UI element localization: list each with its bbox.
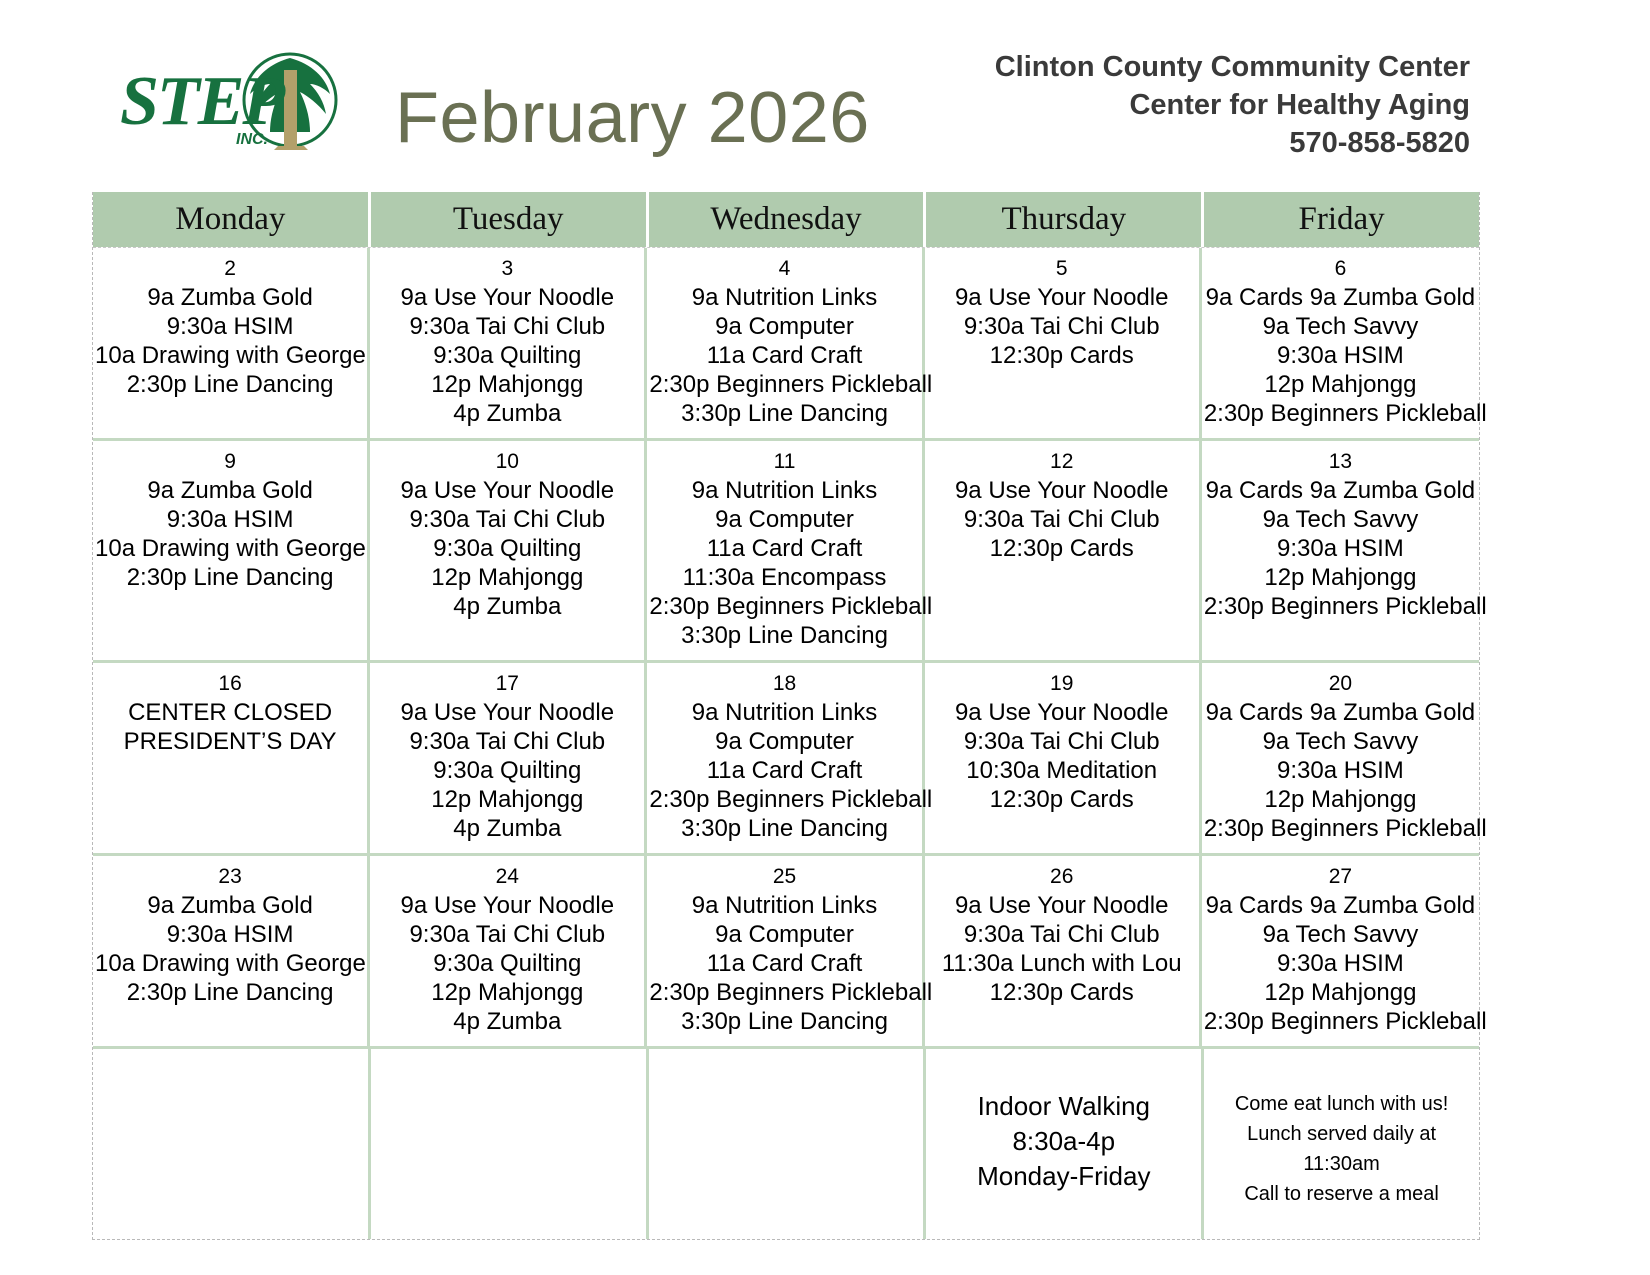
event-item: 9a Computer [649,312,919,341]
event-item: 9a Cards 9a Zumba Gold [1204,476,1477,505]
event-item: 9:30a Quilting [372,949,642,978]
day-cell-27[interactable]: 279a Cards 9a Zumba Gold9a Tech Savvy9:3… [1202,856,1479,1046]
day-number: 11 [649,447,919,476]
day-header-friday: Friday [1204,192,1479,247]
event-item: 11:30a Encompass [649,563,919,592]
event-item: 9a Use Your Noodle [372,283,642,312]
day-number: 4 [649,254,919,283]
day-number: 10 [372,447,642,476]
day-number: 17 [372,669,642,698]
event-item: 9a Computer [649,727,919,756]
day-number: 9 [95,447,365,476]
event-item: 2:30p Beginners Pickleball [649,785,919,814]
note-line: Monday-Friday [934,1159,1193,1194]
calendar-week-row: 29a Zumba Gold9:30a HSIM10a Drawing with… [93,247,1479,438]
event-item: 9:30a HSIM [1204,341,1477,370]
event-item: 9:30a HSIM [95,920,365,949]
step-inc-logo: STEP INC. [118,48,348,168]
day-header-monday: Monday [93,192,371,247]
day-number: 19 [927,669,1197,698]
event-item: 2:30p Beginners Pickleball [1204,1007,1477,1036]
day-number: 3 [372,254,642,283]
event-item: 9a Use Your Noodle [372,698,642,727]
event-item: 2:30p Beginners Pickleball [1204,592,1477,621]
note-line: Come eat lunch with us! [1212,1089,1471,1119]
event-item: 9:30a Quilting [372,341,642,370]
event-item: 2:30p Beginners Pickleball [649,978,919,1007]
day-header-wednesday: Wednesday [649,192,927,247]
day-cell-17[interactable]: 179a Use Your Noodle9:30a Tai Chi Club9:… [370,663,647,853]
event-item: 4p Zumba [372,1007,642,1036]
event-item: 9:30a Quilting [372,534,642,563]
note-cell-empty [371,1049,649,1239]
org-name: Clinton County Community Center [995,48,1470,86]
event-item: 2:30p Line Dancing [95,563,365,592]
day-cell-10[interactable]: 109a Use Your Noodle9:30a Tai Chi Club9:… [370,441,647,660]
note-line: 11:30am [1212,1149,1471,1179]
day-cell-26[interactable]: 269a Use Your Noodle9:30a Tai Chi Club11… [925,856,1202,1046]
event-item: 3:30p Line Dancing [649,621,919,650]
event-item: 2:30p Line Dancing [95,978,365,1007]
event-item: 9a Computer [649,505,919,534]
event-item: 12p Mahjongg [1204,563,1477,592]
day-cell-4[interactable]: 49a Nutrition Links9a Computer11a Card C… [647,248,924,438]
event-item: 9a Tech Savvy [1204,312,1477,341]
event-item: 9a Use Your Noodle [927,891,1197,920]
event-item: 3:30p Line Dancing [649,814,919,843]
note-line: Indoor Walking [934,1089,1193,1124]
event-item: 12p Mahjongg [1204,978,1477,1007]
event-item: 9a Cards 9a Zumba Gold [1204,283,1477,312]
note-cell-filled: Indoor Walking8:30a-4pMonday-Friday [926,1049,1204,1239]
event-item: 2:30p Beginners Pickleball [649,592,919,621]
org-phone: 570-858-5820 [995,124,1470,162]
day-number: 16 [95,669,365,698]
event-item: 9a Nutrition Links [649,476,919,505]
event-item: 11a Card Craft [649,756,919,785]
event-item: 9a Tech Savvy [1204,505,1477,534]
event-item: 10:30a Meditation [927,756,1197,785]
calendar-week-row: 239a Zumba Gold9:30a HSIM10a Drawing wit… [93,853,1479,1046]
event-item: 9:30a HSIM [1204,949,1477,978]
event-item: 12p Mahjongg [1204,785,1477,814]
event-item: 9a Nutrition Links [649,891,919,920]
note-cell-filled: Come eat lunch with us!Lunch served dail… [1204,1049,1479,1239]
event-item: 4p Zumba [372,814,642,843]
day-number: 6 [1204,254,1477,283]
calendar-grid: MondayTuesdayWednesdayThursdayFriday 29a… [92,192,1480,1240]
day-cell-23[interactable]: 239a Zumba Gold9:30a HSIM10a Drawing wit… [93,856,370,1046]
event-item: 3:30p Line Dancing [649,1007,919,1036]
event-item: 4p Zumba [372,399,642,428]
day-header-tuesday: Tuesday [371,192,649,247]
event-item: 2:30p Beginners Pickleball [649,370,919,399]
day-cell-3[interactable]: 39a Use Your Noodle9:30a Tai Chi Club9:3… [370,248,647,438]
event-item: 9:30a Tai Chi Club [927,505,1197,534]
event-item: 9a Nutrition Links [649,283,919,312]
event-item: 9a Zumba Gold [95,476,365,505]
event-item: 9a Cards 9a Zumba Gold [1204,891,1477,920]
event-item: 12:30p Cards [927,785,1197,814]
event-item: 11a Card Craft [649,341,919,370]
note-cell-empty [649,1049,927,1239]
event-item: 9a Zumba Gold [95,283,365,312]
event-item: 9:30a Quilting [372,756,642,785]
day-cell-16[interactable]: 16CENTER CLOSEDPRESIDENT’S DAY [93,663,370,853]
calendar-week-row: 16CENTER CLOSEDPRESIDENT’S DAY179a Use Y… [93,660,1479,853]
day-number: 24 [372,862,642,891]
day-cell-11[interactable]: 119a Nutrition Links9a Computer11a Card … [647,441,924,660]
event-item: 9a Tech Savvy [1204,727,1477,756]
day-number: 27 [1204,862,1477,891]
day-number: 26 [927,862,1197,891]
event-item: 9:30a HSIM [95,312,365,341]
event-item: 9a Tech Savvy [1204,920,1477,949]
event-item: 11:30a Lunch with Lou [927,949,1197,978]
event-item: 9:30a Tai Chi Club [372,920,642,949]
note-cell-empty [93,1049,371,1239]
event-item: 9a Use Your Noodle [372,891,642,920]
page-header: STEP INC. February 2026 Clinton County C… [0,0,1650,190]
note-line: Lunch served daily at [1212,1119,1471,1149]
note-line: Call to reserve a meal [1212,1179,1471,1209]
organization-header: Clinton County Community Center Center f… [995,48,1470,162]
day-cell-19[interactable]: 199a Use Your Noodle9:30a Tai Chi Club10… [925,663,1202,853]
day-cell-2[interactable]: 29a Zumba Gold9:30a HSIM10a Drawing with… [93,248,370,438]
event-item: 10a Drawing with George [95,341,365,370]
event-item: 10a Drawing with George [95,534,365,563]
day-cell-12[interactable]: 129a Use Your Noodle9:30a Tai Chi Club12… [925,441,1202,660]
note-line: 8:30a-4p [934,1124,1193,1159]
event-item: 11a Card Craft [649,534,919,563]
event-item: 9:30a Tai Chi Club [927,920,1197,949]
event-item: 12:30p Cards [927,341,1197,370]
event-item: 11a Card Craft [649,949,919,978]
day-number: 25 [649,862,919,891]
event-item: 2:30p Beginners Pickleball [1204,814,1477,843]
event-item: 3:30p Line Dancing [649,399,919,428]
event-item: 4p Zumba [372,592,642,621]
event-item: 12p Mahjongg [372,563,642,592]
event-item: 12:30p Cards [927,978,1197,1007]
event-item: 9a Use Your Noodle [372,476,642,505]
day-number: 2 [95,254,365,283]
day-number: 5 [927,254,1197,283]
day-number: 13 [1204,447,1477,476]
event-item: 12p Mahjongg [372,785,642,814]
day-number: 23 [95,862,365,891]
calendar-page: STEP INC. February 2026 Clinton County C… [0,0,1650,1275]
event-item: 2:30p Line Dancing [95,370,365,399]
day-number: 20 [1204,669,1477,698]
day-header-thursday: Thursday [926,192,1204,247]
day-cell-9[interactable]: 99a Zumba Gold9:30a HSIM10a Drawing with… [93,441,370,660]
event-item: 9:30a Tai Chi Club [927,312,1197,341]
event-item: 9a Cards 9a Zumba Gold [1204,698,1477,727]
closed-notice: CENTER CLOSED [95,698,365,727]
day-of-week-header-row: MondayTuesdayWednesdayThursdayFriday [93,192,1479,247]
event-item: 9:30a HSIM [1204,534,1477,563]
day-cell-13[interactable]: 139a Cards 9a Zumba Gold9a Tech Savvy9:3… [1202,441,1479,660]
event-item: 9a Nutrition Links [649,698,919,727]
calendar-notes-row: Indoor Walking8:30a-4pMonday-FridayCome … [93,1046,1479,1239]
month-title: February 2026 [395,82,870,154]
calendar-weeks: 29a Zumba Gold9:30a HSIM10a Drawing with… [93,247,1479,1046]
event-item: 9:30a HSIM [95,505,365,534]
event-item: 9a Use Your Noodle [927,476,1197,505]
day-cell-25[interactable]: 259a Nutrition Links9a Computer11a Card … [647,856,924,1046]
org-subtitle: Center for Healthy Aging [995,86,1470,124]
event-item: 12p Mahjongg [372,370,642,399]
svg-text:STEP: STEP [120,63,286,140]
day-cell-6[interactable]: 69a Cards 9a Zumba Gold9a Tech Savvy9:30… [1202,248,1479,438]
event-item: 9:30a Tai Chi Club [372,727,642,756]
closed-notice: PRESIDENT’S DAY [95,727,365,756]
day-cell-5[interactable]: 59a Use Your Noodle9:30a Tai Chi Club12:… [925,248,1202,438]
day-number: 18 [649,669,919,698]
event-item: 2:30p Beginners Pickleball [1204,399,1477,428]
svg-text:INC.: INC. [236,131,268,148]
calendar-week-row: 99a Zumba Gold9:30a HSIM10a Drawing with… [93,438,1479,660]
event-item: 9:30a HSIM [1204,756,1477,785]
event-item: 10a Drawing with George [95,949,365,978]
day-cell-24[interactable]: 249a Use Your Noodle9:30a Tai Chi Club9:… [370,856,647,1046]
event-item: 12:30p Cards [927,534,1197,563]
event-item: 9a Computer [649,920,919,949]
event-item: 9:30a Tai Chi Club [372,505,642,534]
event-item: 9:30a Tai Chi Club [927,727,1197,756]
event-item: 12p Mahjongg [372,978,642,1007]
event-item: 9a Use Your Noodle [927,698,1197,727]
event-item: 9a Use Your Noodle [927,283,1197,312]
day-number: 12 [927,447,1197,476]
event-item: 12p Mahjongg [1204,370,1477,399]
event-item: 9:30a Tai Chi Club [372,312,642,341]
event-item: 9a Zumba Gold [95,891,365,920]
day-cell-20[interactable]: 209a Cards 9a Zumba Gold9a Tech Savvy9:3… [1202,663,1479,853]
day-cell-18[interactable]: 189a Nutrition Links9a Computer11a Card … [647,663,924,853]
